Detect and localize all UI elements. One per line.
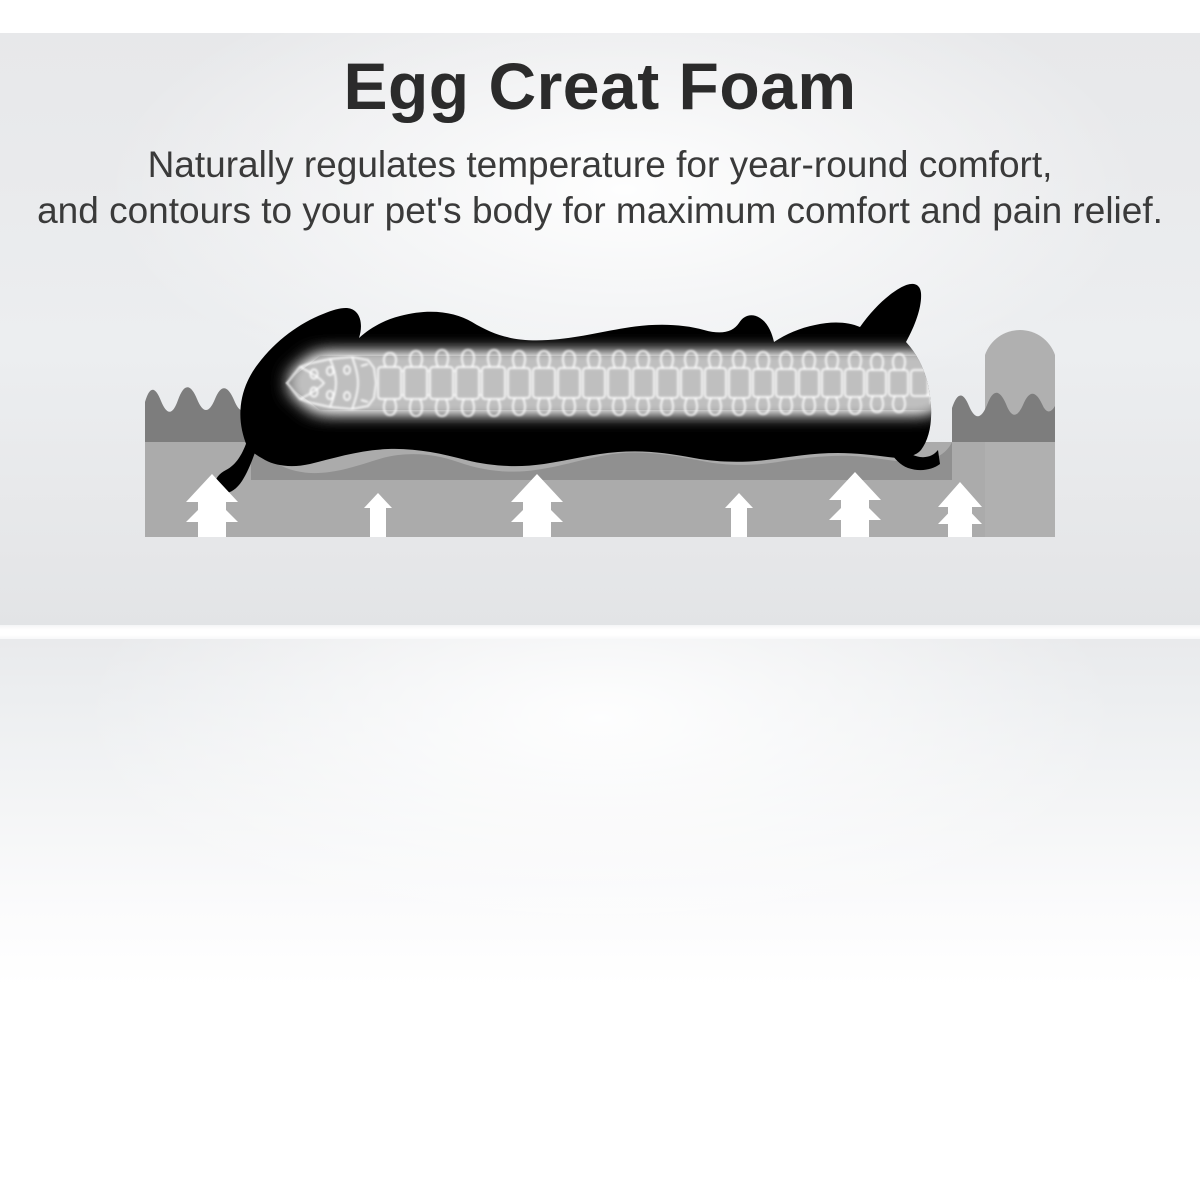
subtitle-line-2: and contours to your pet's body for maxi… [0, 188, 1200, 234]
panel-divider [0, 625, 1200, 639]
panel-egg-crate-foam: Egg Creat Foam Naturally regulates tempe… [0, 0, 1200, 632]
subtitle-line-1: Naturally regulates temperature for year… [0, 142, 1200, 188]
spine-xray [285, 350, 950, 416]
infographic-page: Egg Creat Foam Naturally regulates tempe… [0, 0, 1200, 1200]
top-white-strip [0, 0, 1200, 33]
page-subtitle: Naturally regulates temperature for year… [0, 142, 1200, 234]
panel-increased-airflow: Increased Airfow [0, 639, 1200, 1200]
dog-spine-support-diagram [0, 250, 1200, 560]
page-title: Egg Creat Foam [0, 49, 1200, 123]
